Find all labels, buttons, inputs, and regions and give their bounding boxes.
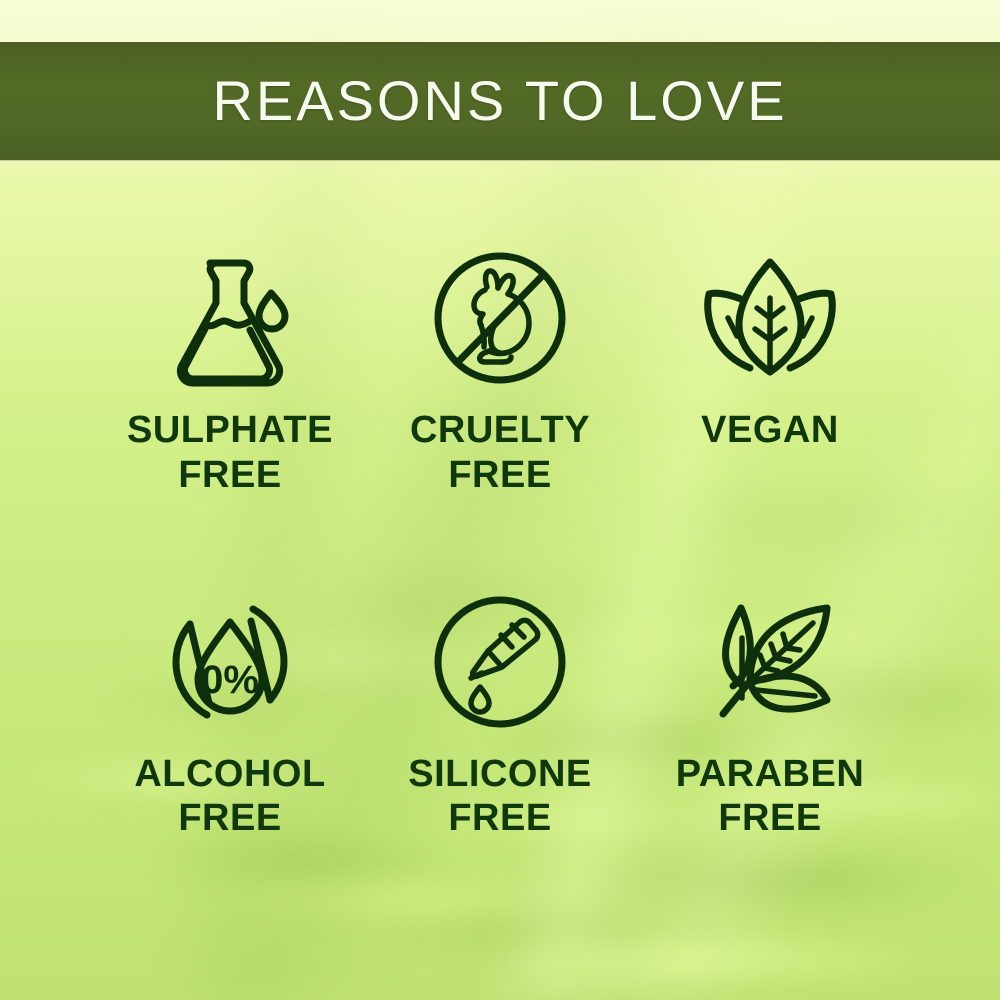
badge-label: SILICONE FREE (408, 752, 591, 842)
header-banner: REASONS TO LOVE (0, 42, 1000, 160)
badge-label-line2: FREE (676, 796, 865, 841)
badge-label-line1: VEGAN (701, 409, 839, 451)
page-title: REASONS TO LOVE (212, 73, 787, 129)
badge-label-line1: SILICONE (408, 753, 591, 795)
leaf-branch-icon (695, 590, 845, 738)
flask-droplet-icon (155, 246, 305, 394)
badge-vegan: VEGAN (635, 246, 905, 498)
zero-percent-droplet-icon: 0% (155, 590, 305, 738)
badge-silicone-free: SILICONE FREE (365, 590, 635, 842)
badge-label: ALCOHOL FREE (134, 752, 325, 842)
badge-cruelty-free: CRUELTY FREE (365, 246, 635, 498)
badge-grid: SULPHATE FREE (0, 246, 1000, 841)
badge-label: SULPHATE FREE (127, 408, 333, 498)
badge-label-line1: ALCOHOL (134, 753, 325, 795)
badge-label: CRUELTY FREE (410, 408, 590, 498)
badge-paraben-free: PARABEN FREE (635, 590, 905, 842)
badge-label-line2: FREE (410, 453, 590, 498)
badge-label-line2: FREE (408, 796, 591, 841)
badge-label-line2: FREE (134, 796, 325, 841)
badge-alcohol-free: 0% ALCOHOL FREE (95, 590, 365, 842)
badge-label: VEGAN (701, 408, 839, 453)
three-leaves-icon (695, 246, 845, 394)
zero-percent-text: 0% (201, 658, 259, 702)
badge-label-line2: FREE (127, 453, 333, 498)
dropper-pipette-icon (425, 590, 575, 738)
badge-sulphate-free: SULPHATE FREE (95, 246, 365, 498)
badge-label-line1: PARABEN (676, 753, 865, 795)
badge-label-line1: CRUELTY (410, 409, 590, 451)
badge-label-line1: SULPHATE (127, 409, 333, 451)
reasons-to-love-poster: REASONS TO LOVE SULPHATE FREE (0, 0, 1000, 1000)
no-animal-testing-icon (425, 246, 575, 394)
badge-label: PARABEN FREE (676, 752, 865, 842)
